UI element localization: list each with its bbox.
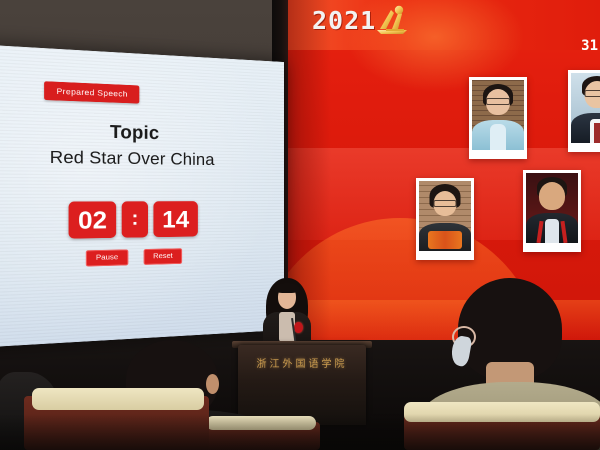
- speaker-fringe: [275, 283, 299, 293]
- portrait-photo: [419, 181, 471, 251]
- timer-controls: Pause Reset: [0, 246, 265, 269]
- foreground-shadow: [0, 414, 600, 450]
- slide-topic-label: Topic: [0, 118, 265, 146]
- presentation-scene: 2021 31: [0, 0, 600, 450]
- portrait-photo: [472, 80, 524, 150]
- speaker-badge-flower: [294, 322, 303, 333]
- prepared-speech-badge: Prepared Speech: [44, 81, 140, 103]
- chair-cushion: [32, 388, 204, 410]
- timer-separator: :: [122, 201, 148, 237]
- portrait-bottom-left: [416, 178, 474, 260]
- timer-seconds: 14: [153, 201, 197, 237]
- projection-screen: Prepared Speech Topic Red Star Over Chin…: [0, 44, 284, 349]
- book-torch-emblem-icon: [373, 3, 411, 39]
- presentation-slide: Prepared Speech Topic Red Star Over Chin…: [0, 44, 284, 349]
- portrait-top-left: [469, 77, 527, 159]
- portrait-photo: [571, 73, 600, 143]
- led-corner-number: 31: [581, 38, 598, 54]
- slide-topic-value: Red Star Over China: [0, 148, 265, 171]
- countdown-timer: 02 : 14: [0, 201, 265, 240]
- led-year-text: 2021: [312, 6, 376, 35]
- portrait-photo: [526, 173, 578, 243]
- timer-minutes: 02: [69, 201, 117, 238]
- portrait-bottom-right: [523, 170, 581, 252]
- reset-button[interactable]: Reset: [143, 248, 182, 265]
- pause-button[interactable]: Pause: [86, 249, 128, 266]
- portrait-top-right: [568, 70, 600, 152]
